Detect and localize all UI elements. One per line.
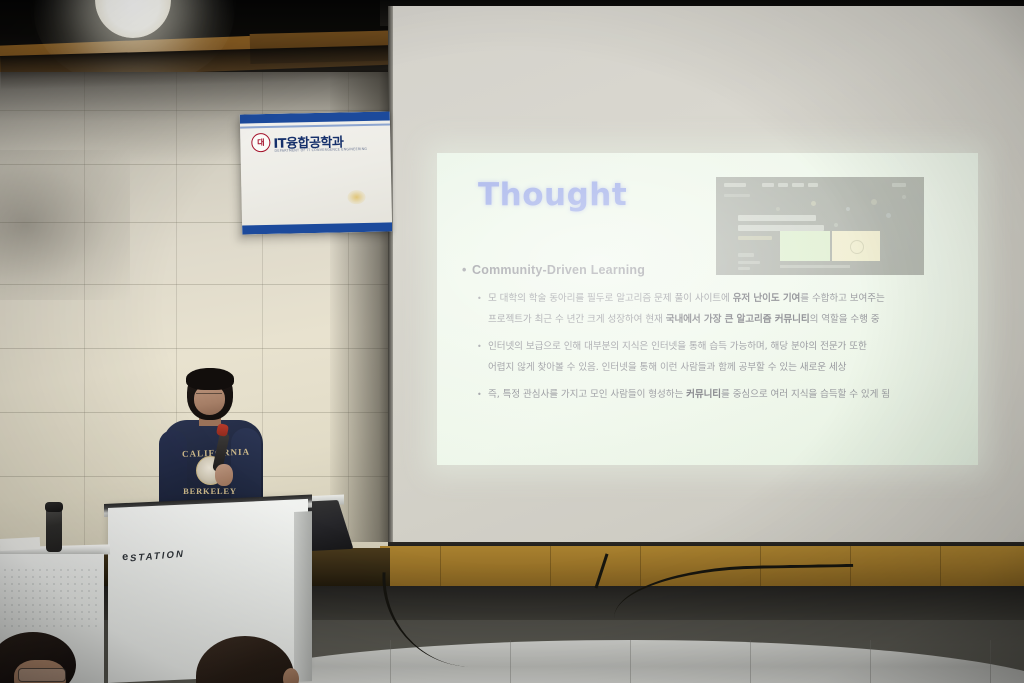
cart-perforation [81,590,83,592]
cart-perforation [25,583,27,585]
cart-perforation [46,625,48,627]
thumbnail-particle-dot [846,207,850,211]
cart-perforation [18,611,20,613]
thumbnail-particle-dot [902,195,906,199]
cart-perforation [74,583,76,585]
cart-perforation [11,611,13,613]
banner-light-smudge [347,190,365,204]
cart-perforation [46,590,48,592]
cart-perforation [81,569,83,571]
cart-perforation [74,576,76,578]
thumbnail-nav-chip [808,183,818,187]
slide-sub-bullet: •모 대학의 학술 동아리를 필두로 알고리즘 문제 풀이 사이트에 유저 난이… [488,288,962,330]
cart-perforation [88,618,90,620]
cart-perforation [39,611,41,613]
cart-perforation [74,590,76,592]
cart-perforation [60,576,62,578]
metal-panel-seam [990,640,991,683]
cart-perforation [74,618,76,620]
thumbnail-headline-line [738,215,816,221]
cart-perforation [81,576,83,578]
cart-perforation [39,604,41,606]
cart-perforation [32,590,34,592]
cart-perforation [39,576,41,578]
cart-perforation [46,569,48,571]
cart-perforation [18,597,20,599]
cart-perforation [32,576,34,578]
cart-perforation [60,618,62,620]
thumbnail-card-green [780,231,830,261]
cart-perforation [88,590,90,592]
cart-perforation [53,604,55,606]
cart-perforation [88,576,90,578]
slide-sub-bullet: •즉, 특정 관심사를 가지고 모인 사람들이 형성하는 커뮤니티를 중심으로 … [488,384,962,405]
thumbnail-nav-chip [792,183,804,187]
cart-perforation [74,604,76,606]
bullet-marker-icon: • [462,261,472,279]
wall-shadow-blob [0,150,130,300]
slide-sub-bullet-line: 모 대학의 학술 동아리를 필두로 알고리즘 문제 풀이 사이트에 유저 난이도… [488,288,962,309]
cart-perforation [11,583,13,585]
cart-perforation [88,611,90,613]
cart-perforation [95,597,97,599]
wood-panel-seam [640,546,641,590]
slide-sub-bullet-line: 프로젝트가 최근 수 년간 크게 성장하여 현재 국내에서 가장 큰 알고리즘 … [488,309,962,330]
cart-perforation [11,618,13,620]
thumbnail-nav-chip [724,183,746,187]
cart-perforation [74,611,76,613]
cart-perforation [11,604,13,606]
cart-perforation [81,604,83,606]
cart-perforation [39,597,41,599]
cart-perforation [32,618,34,620]
cart-perforation [25,604,27,606]
cart-perforation [74,625,76,627]
cart-perforation [88,604,90,606]
slide-sub-bullets: •모 대학의 학술 동아리를 필두로 알고리즘 문제 풀이 사이트에 유저 난이… [488,288,962,405]
cart-perforation [67,597,69,599]
cart-perforation [60,590,62,592]
cart-perforation [67,583,69,585]
cart-perforation [81,597,83,599]
cart-perforation [95,590,97,592]
cart-perforation [39,569,41,571]
audience-ear [283,668,299,683]
side-cart-perforations [0,566,96,626]
cart-perforation [25,597,27,599]
cart-perforation [46,611,48,613]
wood-panel-seam [940,546,941,590]
cart-perforation [25,569,27,571]
papers-on-cart [0,537,40,551]
cart-perforation [32,604,34,606]
thumbnail-particle-dot [811,201,816,206]
cart-perforation [25,576,27,578]
cart-perforation [46,618,48,620]
presenter-hand [215,464,233,486]
cart-perforation [4,625,6,627]
cart-perforation [39,583,41,585]
presenter-glasses-icon [196,393,222,400]
cart-perforation [18,569,20,571]
audience-glasses-icon [18,668,66,682]
projected-slide: Thought •Community-Driven Learning •모 대학… [437,153,978,465]
cart-perforation [32,569,34,571]
thumbnail-particle-dot [886,213,891,218]
sub-bullet-marker-icon: • [477,288,482,309]
cart-perforation [46,597,48,599]
cart-perforation [53,625,55,627]
slide-sub-bullet-line: 즉, 특정 관심사를 가지고 모인 사람들이 형성하는 커뮤니티를 중심으로 여… [488,384,962,405]
cart-perforation [18,583,20,585]
cart-perforation [53,583,55,585]
cart-perforation [81,625,83,627]
slide-body: •Community-Driven Learning •모 대학의 학술 동아리… [462,261,962,411]
cart-perforation [4,597,6,599]
cart-perforation [60,597,62,599]
cart-perforation [4,569,6,571]
cart-perforation [11,625,13,627]
cart-perforation [67,576,69,578]
banner-stripe-top [240,111,390,123]
cart-perforation [4,611,6,613]
cart-perforation [25,625,27,627]
banner-stripe-accent [240,123,390,128]
thumbnail-nav-chip [892,183,906,187]
thumbnail-side-label [738,253,754,257]
cart-perforation [53,597,55,599]
cart-perforation [95,569,97,571]
projection-screen-left-edge [388,6,393,548]
cart-perforation [67,611,69,613]
cart-perforation [32,625,34,627]
cart-perforation [81,583,83,585]
cart-perforation [18,590,20,592]
cart-perforation [18,604,20,606]
cart-perforation [11,569,13,571]
slide-main-bullet-label: Community-Driven Learning [472,263,645,277]
slide-main-bullet: •Community-Driven Learning [462,261,962,279]
water-bottle [46,508,62,552]
cart-perforation [53,576,55,578]
cart-perforation [74,597,76,599]
podium-side-panel [294,511,312,682]
cart-perforation [46,576,48,578]
presenter-hair [186,368,234,390]
cart-perforation [32,611,34,613]
cart-perforation [32,597,34,599]
slide-sub-bullet-line: 어렵지 않게 찾아볼 수 있음. 인터넷을 통해 이런 사람들과 함께 공부할 … [488,357,962,378]
cart-perforation [25,618,27,620]
cart-perforation [67,618,69,620]
slide-sub-bullet-line: 인터넷의 보급으로 인해 대부분의 지식은 인터넷을 통해 습득 가능하며, 해… [488,336,962,357]
thumbnail-particle-dot [871,199,877,205]
cart-perforation [11,576,13,578]
cart-perforation [25,611,27,613]
cart-perforation [67,625,69,627]
slide-sub-bullet: •인터넷의 보급으로 인해 대부분의 지식은 인터넷을 통해 습득 가능하며, … [488,336,962,378]
thumbnail-nav-chip [762,183,774,187]
thumbnail-subnav-chip [724,194,750,197]
cart-perforation [95,576,97,578]
cart-perforation [74,569,76,571]
cart-perforation [81,618,83,620]
cart-perforation [60,625,62,627]
cart-perforation [18,576,20,578]
cart-perforation [88,583,90,585]
cart-perforation [46,583,48,585]
sub-bullet-marker-icon: • [477,336,482,357]
cart-perforation [53,590,55,592]
cart-perforation [95,625,97,627]
cart-perforation [4,590,6,592]
cart-perforation [53,569,55,571]
cart-perforation [18,625,20,627]
sweatshirt-bottom-text: BERKELEY [179,486,241,496]
cart-perforation [67,590,69,592]
cart-perforation [4,576,6,578]
cart-perforation [18,618,20,620]
cart-perforation [60,604,62,606]
cart-perforation [39,618,41,620]
cart-perforation [4,583,6,585]
slide-title: Thought [478,177,627,213]
cart-perforation [60,569,62,571]
cart-perforation [39,590,41,592]
lecture-hall-scene: Thought •Community-Driven Learning •모 대학… [0,0,1024,683]
cart-perforation [11,597,13,599]
cart-perforation [88,625,90,627]
metal-panel-seam [390,640,391,683]
department-banner: 대 IT융합공학과 DEPARTMENT OF IT CONVERGENCE E… [240,111,392,234]
cart-perforation [60,611,62,613]
cart-perforation [81,611,83,613]
thumbnail-nav-chip [778,183,788,187]
thumbnail-card-yellow [832,231,880,261]
cart-perforation [32,583,34,585]
cart-perforation [88,569,90,571]
cart-perforation [46,604,48,606]
cart-perforation [4,604,6,606]
cart-perforation [53,611,55,613]
cart-perforation [88,597,90,599]
cart-perforation [11,590,13,592]
sub-bullet-marker-icon: • [477,384,482,405]
thumbnail-subtitle-line [738,236,772,240]
thumbnail-particle-dot [834,223,838,227]
thumbnail-particle-dot [776,207,780,211]
cart-perforation [95,604,97,606]
cart-perforation [95,611,97,613]
thumbnail-headline-line [738,225,824,231]
cart-perforation [67,604,69,606]
cart-perforation [95,583,97,585]
metal-panel-seam [870,640,871,683]
cart-perforation [67,569,69,571]
cart-perforation [25,590,27,592]
cart-perforation [4,618,6,620]
thumbnail-circle-icon [850,240,864,254]
cart-perforation [60,583,62,585]
cart-perforation [95,618,97,620]
university-logo-icon: 대 [251,133,270,152]
cart-perforation [53,618,55,620]
cart-perforation [39,625,41,627]
banner-department-english-label: DEPARTMENT OF IT CONVERGENCE ENGINEERING [274,147,367,153]
water-bottle-cap [45,502,63,512]
